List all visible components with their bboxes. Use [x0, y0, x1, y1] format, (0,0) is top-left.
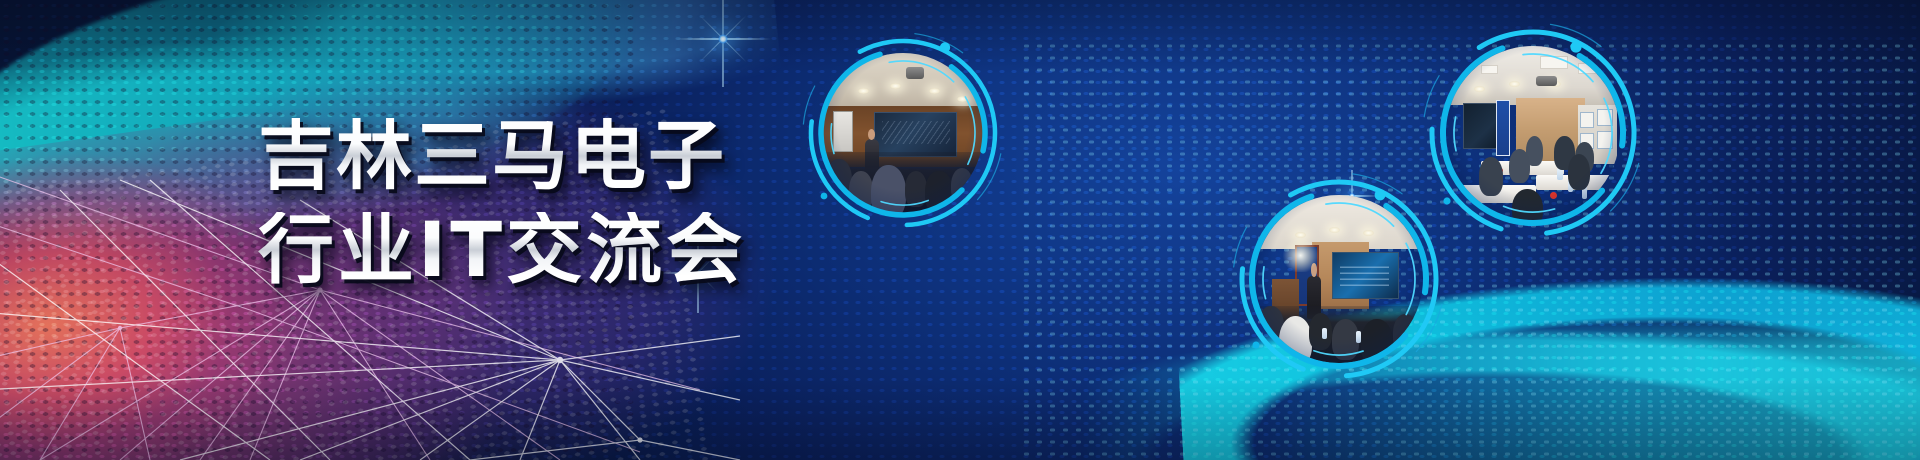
- medallion-ring: [1418, 18, 1648, 248]
- star-flare-top: [722, 38, 723, 39]
- photo-medallion-speaker[interactable]: [1228, 168, 1450, 390]
- page-title-line-1: 吉林三马电子: [258, 118, 818, 194]
- event-banner: 吉林三马电子 行业IT交流会: [0, 0, 1920, 460]
- photo-medallion-meeting-room[interactable]: [1418, 18, 1648, 248]
- cyan-wave-soft: [1080, 250, 1920, 460]
- headline-block: 吉林三马电子 行业IT交流会: [258, 118, 818, 288]
- medallion-ring: [798, 28, 1008, 238]
- page-title-line-2: 行业IT交流会: [258, 212, 818, 288]
- photo-medallion-lecture-hall[interactable]: [798, 28, 1008, 238]
- medallion-ring: [1228, 168, 1450, 390]
